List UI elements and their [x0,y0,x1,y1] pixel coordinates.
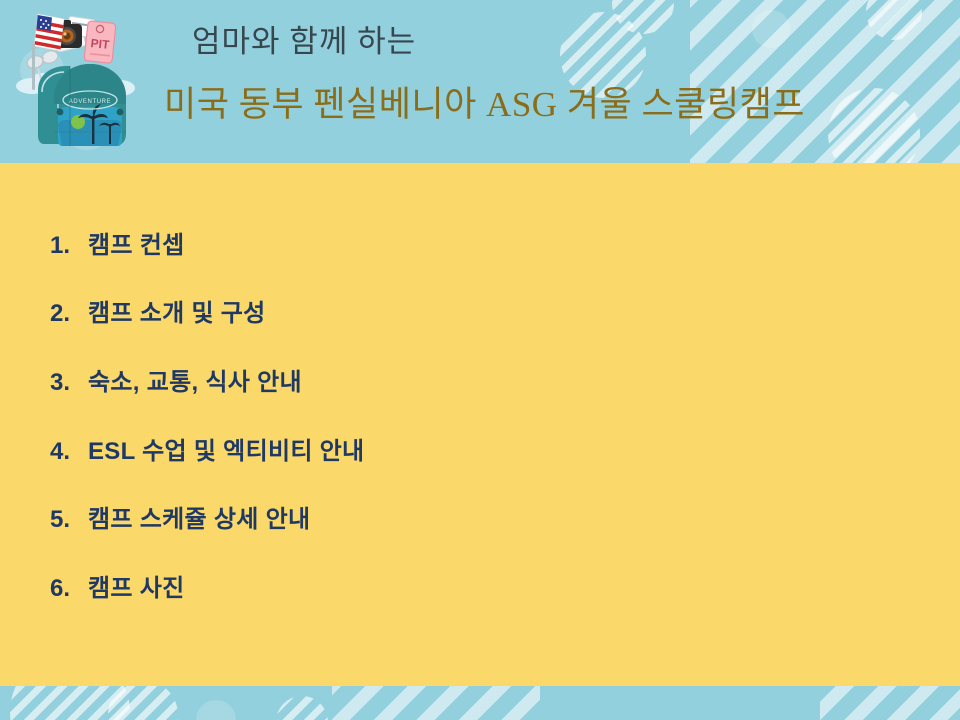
list-item[interactable]: 3. 숙소, 교통, 식사 안내 [50,362,302,397]
stripe-circle-5 [10,686,130,720]
list-item-label: 캠프 스케쥴 상세 안내 [88,499,310,534]
list-item-label: 숙소, 교통, 식사 안내 [88,362,302,397]
plain-circle-4 [196,700,236,720]
travel-backpack-illustration: PIT ADVE [8,4,144,154]
list-item-number: 2. [50,300,88,328]
footer-band [0,686,960,720]
header-text-block: 엄마와 함께 하는 미국 동부 펜실베니아 ASG 겨울 스쿨링캠프 [150,0,950,163]
list-item-label: 캠프 사진 [88,568,185,603]
stripe-panel-bottom-right [820,686,960,720]
list-item-label: 캠프 컨셉 [88,225,185,260]
list-item[interactable]: 1. 캠프 컨셉 [50,225,185,260]
list-item[interactable]: 4. ESL 수업 및 엑티비티 안내 [50,431,364,466]
stripe-panel-bottom-center [332,686,540,720]
list-item-number: 6. [50,575,88,603]
stripe-circle-6 [108,686,178,720]
stripe-circle-7 [276,696,328,720]
list-item[interactable]: 5. 캠프 스케쥴 상세 안내 [50,499,310,534]
agenda-list: 1. 캠프 컨셉 2. 캠프 소개 및 구성 3. 숙소, 교통, 식사 안내 … [0,163,960,686]
presentation-slide: PIT ADVE [0,0,960,720]
list-item-number: 4. [50,438,88,466]
list-item-label: ESL 수업 및 엑티비티 안내 [88,431,364,466]
list-item[interactable]: 6. 캠프 사진 [50,568,185,603]
slide-title: 미국 동부 펜실베니아 ASG 겨울 스쿨링캠프 [164,76,805,127]
header-band: PIT ADVE [0,0,960,163]
list-item-number: 3. [50,369,88,397]
slide-subtitle: 엄마와 함께 하는 [192,16,416,61]
svg-text:ADVENTURE: ADVENTURE [69,99,111,105]
list-item[interactable]: 2. 캠프 소개 및 구성 [50,293,266,328]
list-item-number: 1. [50,232,88,260]
list-item-number: 5. [50,506,88,534]
list-item-label: 캠프 소개 및 구성 [88,293,266,328]
svg-text:PIT: PIT [90,36,111,52]
luggage-tag-icon: PIT [84,21,116,64]
